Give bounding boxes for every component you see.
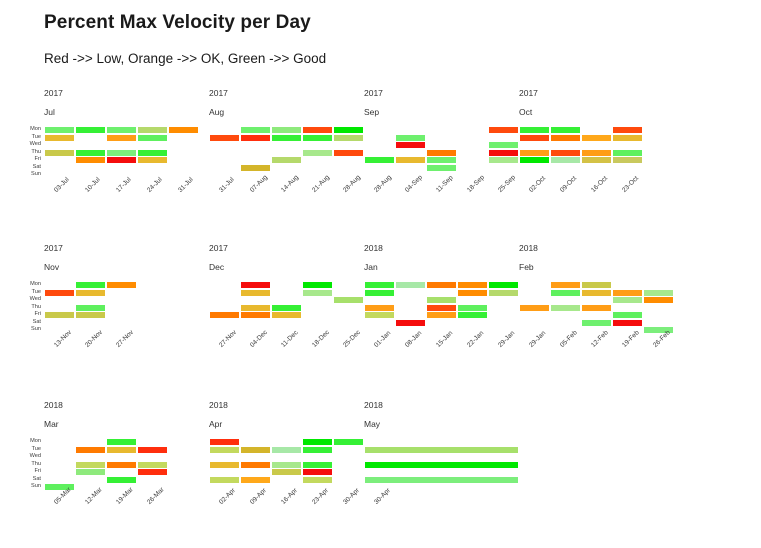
heatmap-cell[interactable] (551, 305, 580, 311)
date-tick-label: 30-Apr (373, 487, 392, 506)
heatmap-cell[interactable] (303, 462, 332, 468)
panel-year-label: 2017 (519, 88, 538, 98)
heatmap-cell[interactable] (303, 469, 332, 475)
heatmap-cell[interactable] (107, 477, 136, 483)
date-tick-label: 20-Nov (84, 329, 104, 349)
calendar-heatmap-page: Percent Max Velocity per Day Red ->> Low… (0, 0, 761, 548)
date-tick-label: 09-Apr (249, 487, 268, 506)
weekday-label-wed: Wed (15, 141, 41, 149)
weekday-label-fri: Fri (15, 311, 41, 319)
weekday-label-thu: Thu (15, 461, 41, 469)
heatmap-cell[interactable] (210, 462, 239, 468)
heatmap-cell[interactable] (107, 150, 136, 156)
heatmap-cell[interactable] (272, 305, 301, 311)
heatmap-cell[interactable] (582, 320, 611, 326)
heatmap-cell[interactable] (76, 469, 105, 475)
panel-month-label: Feb (519, 262, 534, 272)
heatmap-cell[interactable] (427, 297, 456, 303)
heatmap-cell[interactable] (582, 305, 611, 311)
page-subtitle: Red ->> Low, Orange ->> OK, Green ->> Go… (44, 51, 326, 66)
heatmap-cell[interactable] (365, 305, 394, 311)
heatmap-cell[interactable] (458, 290, 487, 296)
heatmap-cell[interactable] (76, 290, 105, 296)
date-tick-label: 02-Apr (218, 487, 237, 506)
date-tick-label: 11-Sep (435, 174, 455, 194)
heatmap-cell[interactable] (582, 135, 611, 141)
panel-year-label: 2018 (209, 400, 228, 410)
date-tick-label: 26-Mar (146, 486, 166, 506)
panel-year-label: 2017 (364, 88, 383, 98)
heatmap-cell[interactable] (303, 127, 332, 133)
date-tick-label: 27-Nov (218, 329, 238, 349)
date-tick-label: 03-Jul (53, 176, 71, 194)
heatmap-cell[interactable] (45, 150, 74, 156)
weekday-label-mon: Mon (15, 438, 41, 446)
date-tick-label: 31-Jul (218, 176, 236, 194)
heatmap-cell[interactable] (458, 312, 487, 318)
heatmap-cell[interactable] (365, 290, 394, 296)
heatmap-cell[interactable] (551, 127, 580, 133)
heatmap-cell[interactable] (334, 135, 363, 141)
panel-year-label: 2018 (44, 400, 63, 410)
heatmap-cell[interactable] (107, 447, 136, 453)
weekday-label-thu: Thu (15, 149, 41, 157)
heatmap-cell[interactable] (396, 157, 425, 163)
date-tick-label: 13-Nov (53, 329, 73, 349)
heatmap-cell[interactable] (489, 290, 518, 296)
heatmap-cell[interactable] (210, 439, 239, 445)
date-tick-label: 28-Aug (342, 174, 362, 194)
heatmap-cell[interactable] (365, 282, 394, 288)
weekday-label-tue: Tue (15, 446, 41, 454)
weekday-label-mon: Mon (15, 126, 41, 134)
heatmap-cell[interactable] (520, 157, 549, 163)
panel-year-label: 2018 (364, 400, 383, 410)
heatmap-cell[interactable] (551, 157, 580, 163)
heatmap-cell[interactable] (427, 157, 456, 163)
heatmap-cell[interactable] (365, 312, 394, 318)
heatmap-cell[interactable] (138, 469, 167, 475)
panel-month-label: Oct (519, 107, 532, 117)
date-tick-label: 14-Aug (280, 174, 300, 194)
date-tick-label: 12-Mar (84, 486, 104, 506)
heatmap-cell[interactable] (520, 135, 549, 141)
heatmap-cell[interactable] (551, 290, 580, 296)
heatmap-cell[interactable] (45, 312, 74, 318)
heatmap-cell[interactable] (138, 462, 167, 468)
heatmap-cell[interactable] (76, 462, 105, 468)
heatmap-cell[interactable] (334, 150, 363, 156)
date-tick-label: 25-Dec (342, 329, 362, 349)
heatmap-cell[interactable] (107, 135, 136, 141)
heatmap-cell[interactable] (303, 290, 332, 296)
panel-year-label: 2018 (519, 243, 538, 253)
heatmap-cell[interactable] (169, 127, 198, 133)
panel-year-label: 2017 (209, 243, 228, 253)
heatmap-cell[interactable] (427, 150, 456, 156)
panel-year-label: 2017 (44, 243, 63, 253)
weekday-label-wed: Wed (15, 453, 41, 461)
heatmap-cell[interactable] (396, 135, 425, 141)
panel-year-label: 2017 (44, 88, 63, 98)
date-tick-label: 28-Aug (373, 174, 393, 194)
heatmap-cell[interactable] (272, 135, 301, 141)
heatmap-cell[interactable] (644, 297, 673, 303)
heatmap-cell[interactable] (365, 477, 518, 483)
heatmap-cell[interactable] (272, 312, 301, 318)
heatmap-cell[interactable] (303, 447, 332, 453)
heatmap-cell[interactable] (303, 282, 332, 288)
weekday-label-sun: Sun (15, 483, 41, 491)
heatmap-cell[interactable] (241, 477, 270, 483)
heatmap-cell[interactable] (76, 312, 105, 318)
heatmap-cell[interactable] (427, 312, 456, 318)
panel-month-label: Dec (209, 262, 224, 272)
heatmap-cell[interactable] (241, 127, 270, 133)
date-tick-label: 30-Apr (342, 487, 361, 506)
weekday-label-tue: Tue (15, 289, 41, 297)
heatmap-cell[interactable] (582, 157, 611, 163)
heatmap-cell[interactable] (489, 150, 518, 156)
heatmap-cell[interactable] (241, 282, 270, 288)
date-tick-label: 12-Feb (590, 329, 610, 349)
heatmap-cell[interactable] (613, 297, 642, 303)
heatmap-cell[interactable] (458, 282, 487, 288)
panel-month-label: May (364, 419, 380, 429)
heatmap-cell[interactable] (520, 305, 549, 311)
date-tick-label: 25-Sep (497, 174, 517, 194)
heatmap-cell[interactable] (334, 297, 363, 303)
heatmap-cell[interactable] (613, 290, 642, 296)
heatmap-cell[interactable] (76, 305, 105, 311)
date-tick-label: 17-Jul (115, 176, 133, 194)
panel-month-label: Apr (209, 419, 222, 429)
date-tick-label: 09-Oct (559, 175, 578, 194)
date-tick-label: 29-Jan (528, 330, 547, 349)
heatmap-cell[interactable] (241, 165, 270, 171)
heatmap-cell[interactable] (241, 290, 270, 296)
heatmap-cell[interactable] (210, 312, 239, 318)
heatmap-cell[interactable] (45, 290, 74, 296)
heatmap-cell[interactable] (272, 447, 301, 453)
heatmap-cell[interactable] (396, 320, 425, 326)
heatmap-cell[interactable] (613, 312, 642, 318)
heatmap-cell[interactable] (613, 135, 642, 141)
weekday-label-sun: Sun (15, 171, 41, 179)
heatmap-cell[interactable] (272, 462, 301, 468)
date-tick-label: 18-Sep (466, 174, 486, 194)
weekday-label-tue: Tue (15, 134, 41, 142)
heatmap-cell[interactable] (427, 165, 456, 171)
heatmap-cell[interactable] (303, 135, 332, 141)
panel-month-label: Sep (364, 107, 379, 117)
heatmap-cell[interactable] (241, 462, 270, 468)
date-tick-label: 05-Feb (559, 329, 579, 349)
date-tick-label: 01-Jan (373, 330, 392, 349)
date-tick-label: 04-Sep (404, 174, 424, 194)
date-tick-label: 16-Oct (590, 175, 609, 194)
heatmap-cell[interactable] (241, 447, 270, 453)
heatmap-cell[interactable] (365, 447, 518, 453)
heatmap-cell[interactable] (489, 157, 518, 163)
date-tick-label: 19-Feb (621, 329, 641, 349)
heatmap-cell[interactable] (107, 439, 136, 445)
date-tick-label: 11-Dec (280, 329, 300, 349)
heatmap-cell[interactable] (272, 157, 301, 163)
heatmap-cell[interactable] (365, 462, 518, 468)
date-tick-label: 27-Nov (115, 329, 135, 349)
heatmap-cell[interactable] (76, 157, 105, 163)
heatmap-cell[interactable] (427, 305, 456, 311)
heatmap-cell[interactable] (272, 469, 301, 475)
panel-year-label: 2017 (209, 88, 228, 98)
heatmap-cell[interactable] (551, 135, 580, 141)
heatmap-cell[interactable] (107, 462, 136, 468)
heatmap-cell[interactable] (303, 477, 332, 483)
heatmap-cell[interactable] (45, 127, 74, 133)
heatmap-cell[interactable] (582, 150, 611, 156)
heatmap-cell[interactable] (396, 282, 425, 288)
weekday-label-sat: Sat (15, 164, 41, 172)
panel-month-label: Jan (364, 262, 378, 272)
heatmap-cell[interactable] (138, 127, 167, 133)
heatmap-cell[interactable] (303, 150, 332, 156)
heatmap-cell[interactable] (138, 135, 167, 141)
heatmap-cell[interactable] (489, 282, 518, 288)
date-tick-label: 31-Jul (177, 176, 195, 194)
date-tick-label: 04-Dec (249, 329, 269, 349)
weekday-label-sat: Sat (15, 319, 41, 327)
date-tick-label: 19-Mar (115, 486, 135, 506)
date-tick-label: 23-Oct (621, 175, 640, 194)
heatmap-cell[interactable] (241, 305, 270, 311)
heatmap-cell[interactable] (334, 127, 363, 133)
heatmap-cell[interactable] (613, 127, 642, 133)
heatmap-cell[interactable] (241, 312, 270, 318)
heatmap-cell[interactable] (396, 142, 425, 148)
heatmap-cell[interactable] (107, 282, 136, 288)
weekday-label-fri: Fri (15, 468, 41, 476)
date-tick-label: 02-Oct (528, 175, 547, 194)
heatmap-cell[interactable] (520, 150, 549, 156)
heatmap-cell[interactable] (613, 320, 642, 326)
date-tick-label: 08-Jan (404, 330, 423, 349)
heatmap-cell[interactable] (489, 127, 518, 133)
heatmap-cell[interactable] (272, 127, 301, 133)
date-tick-label: 18-Dec (311, 329, 331, 349)
heatmap-cell[interactable] (427, 282, 456, 288)
date-tick-label: 23-Apr (311, 487, 330, 506)
date-tick-label: 29-Jan (497, 330, 516, 349)
heatmap-cell[interactable] (138, 150, 167, 156)
heatmap-cell[interactable] (644, 290, 673, 296)
heatmap-cell[interactable] (334, 439, 363, 445)
weekday-label-fri: Fri (15, 156, 41, 164)
heatmap-cell[interactable] (210, 447, 239, 453)
heatmap-cell[interactable] (303, 439, 332, 445)
heatmap-cell[interactable] (138, 157, 167, 163)
date-tick-label: 10-Jul (84, 176, 102, 194)
heatmap-cell[interactable] (76, 127, 105, 133)
heatmap-cell[interactable] (613, 150, 642, 156)
heatmap-cell[interactable] (241, 135, 270, 141)
heatmap-cell[interactable] (45, 135, 74, 141)
heatmap-cell[interactable] (76, 150, 105, 156)
heatmap-cell[interactable] (613, 157, 642, 163)
panel-year-label: 2018 (364, 243, 383, 253)
heatmap-cell[interactable] (582, 282, 611, 288)
heatmap-cell[interactable] (551, 282, 580, 288)
heatmap-cell[interactable] (138, 447, 167, 453)
heatmap-cell[interactable] (582, 290, 611, 296)
heatmap-cell[interactable] (489, 142, 518, 148)
page-title: Percent Max Velocity per Day (44, 12, 311, 34)
panel-month-label: Nov (44, 262, 59, 272)
heatmap-cell[interactable] (365, 157, 394, 163)
weekday-label-sat: Sat (15, 476, 41, 484)
weekday-label-mon: Mon (15, 281, 41, 289)
date-tick-label: 16-Apr (280, 487, 299, 506)
weekday-label-sun: Sun (15, 326, 41, 334)
heatmap-cell[interactable] (210, 135, 239, 141)
heatmap-cell[interactable] (458, 305, 487, 311)
heatmap-cell[interactable] (76, 447, 105, 453)
weekday-label-thu: Thu (15, 304, 41, 312)
panel-month-label: Mar (44, 419, 59, 429)
heatmap-cell[interactable] (520, 127, 549, 133)
date-tick-label: 07-Aug (249, 174, 269, 194)
heatmap-cell[interactable] (210, 477, 239, 483)
date-tick-label: 22-Jan (466, 330, 485, 349)
panel-month-label: Aug (209, 107, 224, 117)
heatmap-cell[interactable] (107, 127, 136, 133)
date-tick-label: 15-Jan (435, 330, 454, 349)
heatmap-cell[interactable] (107, 157, 136, 163)
heatmap-cell[interactable] (551, 150, 580, 156)
weekday-label-wed: Wed (15, 296, 41, 304)
heatmap-cell[interactable] (76, 282, 105, 288)
date-tick-label: 24-Jul (146, 176, 164, 194)
date-tick-label: 21-Aug (311, 174, 331, 194)
panel-month-label: Jul (44, 107, 55, 117)
